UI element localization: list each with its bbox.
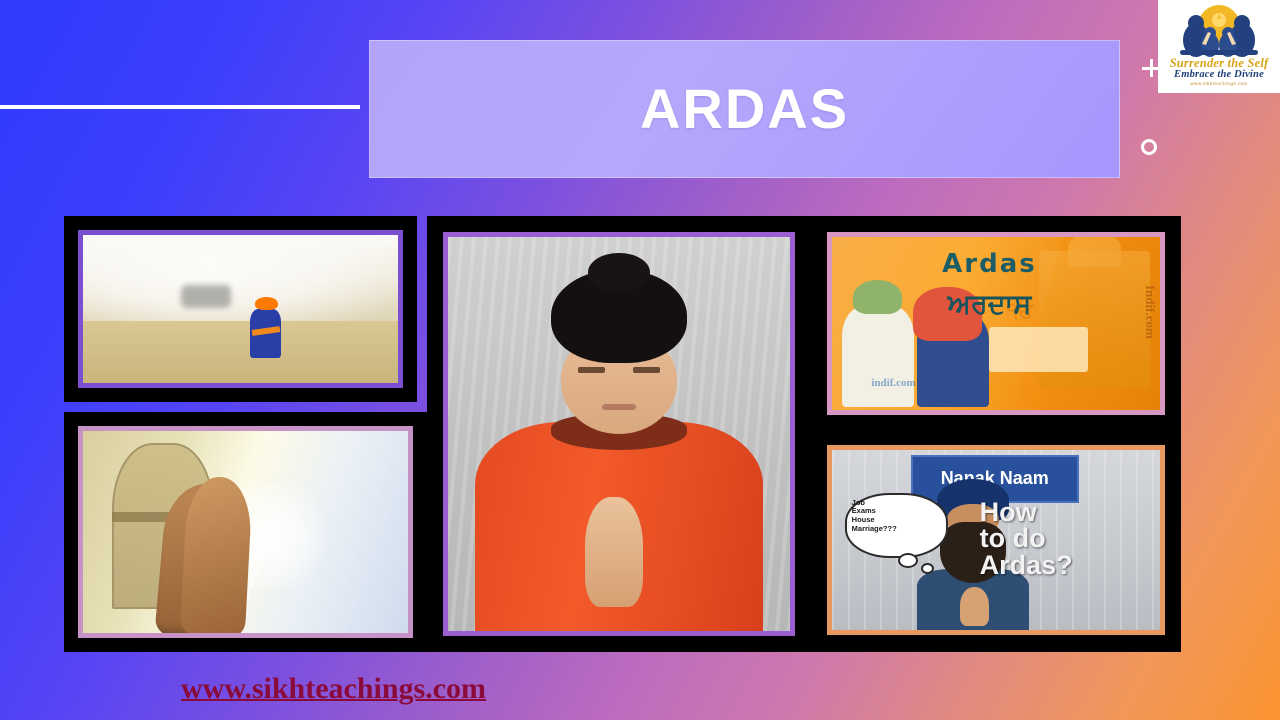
photo-child-soldier-in-field (83, 235, 398, 383)
photo-ardas-poster: ੧ਓ Ardas ਅਰਦਾਸ Indif.com indif.com (832, 237, 1160, 410)
title-box: ARDAS (369, 40, 1120, 178)
photo-praying-hands (83, 431, 408, 633)
photo-frame: ੧ਓ Ardas ਅਰਦਾਸ Indif.com indif.com (827, 232, 1165, 415)
field-layer (83, 321, 398, 383)
logo-url: www.sikhteachings.com (1158, 81, 1280, 86)
photo-frame: Nanak Naam Job Exams House Marriage??? H… (827, 445, 1165, 635)
collage-panel-boy-praying[interactable] (427, 216, 811, 652)
photo-frame (78, 230, 403, 388)
photo-boy-praying (448, 237, 790, 631)
right-eye-shape (633, 367, 660, 373)
collage-panel-how-to-do-ardas-thumbnail[interactable]: Nanak Naam Job Exams House Marriage??? H… (811, 431, 1181, 652)
photo-frame (443, 232, 795, 636)
topknot-shape (588, 253, 650, 292)
child-turban-shape (255, 297, 279, 310)
plus-icon (1142, 59, 1160, 77)
decorative-horizontal-rule (0, 105, 360, 109)
collage-panel-praying-hands[interactable] (64, 412, 427, 652)
photo-frame (78, 426, 413, 638)
poster-title-gurmukhi: ਅਰਦਾਸ (891, 289, 1088, 321)
folded-hands-shape (585, 497, 643, 607)
mouth-shape (602, 404, 636, 410)
left-eye-shape (578, 367, 605, 373)
thought-bubble-dot-large (898, 553, 918, 568)
watermark-left: indif.com (871, 377, 915, 389)
thought-bubble-dot-small (921, 563, 934, 574)
watermark-right: Indif.com (1142, 285, 1158, 339)
man-praying-shape (842, 306, 914, 406)
folded-hands-shape (960, 587, 990, 627)
family-praying-logo-icon (1158, 0, 1280, 58)
thumbnail-headline: How to do Ardas? (980, 499, 1151, 578)
collage-panel-child-soldier-in-field[interactable] (64, 216, 417, 402)
collage-panel-ardas-poster[interactable]: ੧ਓ Ardas ਅਰਦਾਸ Indif.com indif.com (811, 216, 1181, 431)
thought-bubble-text: Job Exams House Marriage??? (852, 499, 944, 534)
circle-outline-icon (1141, 139, 1157, 155)
brand-logo[interactable]: Surrender the Self Embrace the Divine ww… (1158, 0, 1280, 93)
page-title: ARDAS (640, 81, 849, 137)
logo-artwork: Surrender the Self Embrace the Divine ww… (1158, 0, 1280, 93)
footer-website-link[interactable]: www.sikhteachings.com (181, 672, 486, 706)
image-collage: ੧ਓ Ardas ਅਰਦਾਸ Indif.com indif.com Nanak… (64, 216, 1181, 652)
photo-how-to-do-ardas-thumbnail: Nanak Naam Job Exams House Marriage??? H… (832, 450, 1160, 630)
woman-praying-shape (917, 313, 989, 406)
haze-layer (83, 235, 398, 327)
tank-shape (181, 285, 231, 307)
poster-title-english: Ardas (898, 249, 1082, 279)
logo-tagline-secondary: Embrace the Divine (1158, 69, 1280, 80)
